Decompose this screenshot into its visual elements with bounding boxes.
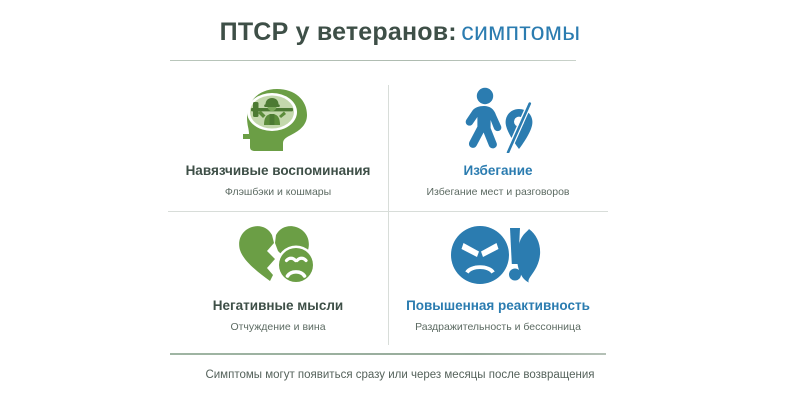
ptsd-symptoms-infographic: ПТСР у ветеранов: симптомы: [0, 0, 800, 400]
symptom-card-avoidance[interactable]: Избегание Избегание мест и разговоров: [388, 78, 608, 213]
symptom-card-intrusive-memories[interactable]: Навязчивые воспоминания Флэшбэки и кошма…: [168, 78, 388, 213]
page-title-main: ПТСР у ветеранов:: [220, 18, 457, 46]
symptom-card-subtitle: Отчуждение и вина: [230, 321, 325, 333]
head-brain-soldier-icon: [239, 84, 317, 156]
symptom-card-title: Избегание: [463, 164, 532, 179]
symptom-card-hyperarousal[interactable]: Повышенная реактивность Раздражительност…: [388, 213, 608, 348]
symptom-card-subtitle: Избегание мест и разговоров: [426, 186, 569, 198]
symptom-card-subtitle: Флэшбэки и кошмары: [225, 186, 331, 198]
symptom-card-title: Навязчивые воспоминания: [186, 164, 371, 179]
angry-face-exclamation-moon-icon: [450, 219, 546, 291]
page-title-accent: симптомы: [461, 18, 580, 46]
footer-divider: [170, 353, 606, 355]
footer-note: Симптомы могут появиться сразу или через…: [0, 369, 800, 381]
broken-heart-sad-face-icon: [234, 219, 322, 291]
grid-vertical-divider: [388, 85, 389, 345]
symptom-card-subtitle: Раздражительность и бессонница: [415, 321, 581, 333]
page-title: ПТСР у ветеранов: симптомы: [0, 18, 800, 47]
grid-horizontal-divider: [168, 211, 608, 212]
symptom-card-negative-thoughts[interactable]: Негативные мысли Отчуждение и вина: [168, 213, 388, 348]
symptom-card-title: Повышенная реактивность: [406, 299, 590, 314]
symptom-card-title: Негативные мысли: [213, 299, 343, 314]
title-divider: [170, 60, 576, 61]
walking-person-no-location-icon: [456, 84, 540, 156]
